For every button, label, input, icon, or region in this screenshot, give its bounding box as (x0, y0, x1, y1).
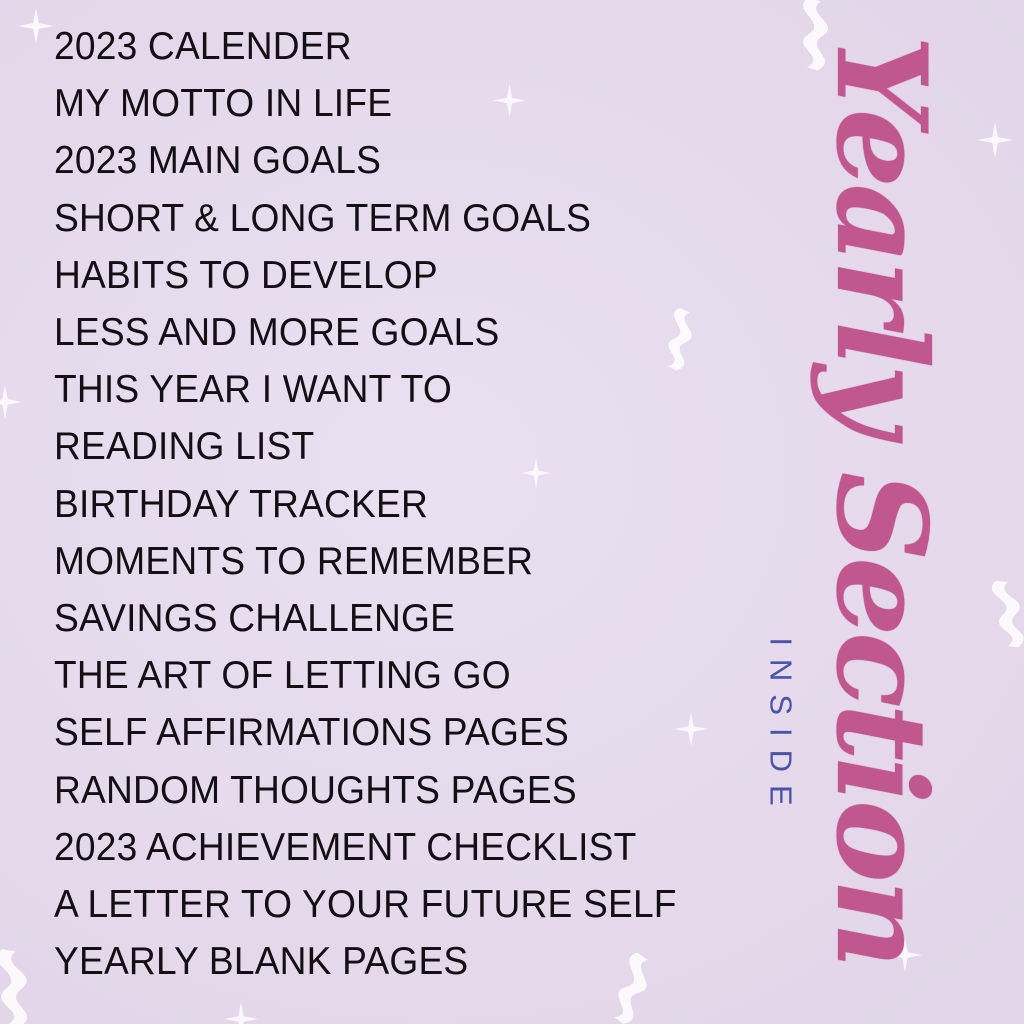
ribbon-bottom-left-icon (0, 943, 48, 1024)
list-item: LESS AND MORE GOALS (54, 304, 691, 361)
sparkle-top-left-icon (18, 8, 54, 44)
list-item: READING LIST (54, 418, 691, 475)
list-item: 2023 MAIN GOALS (54, 132, 691, 189)
list-item: HABITS TO DEVELOP (54, 247, 691, 304)
feature-list: 2023 CALENDERMY MOTTO IN LIFE2023 MAIN G… (54, 18, 714, 990)
list-item: MY MOTTO IN LIFE (54, 75, 691, 132)
list-item: BIRTHDAY TRACKER (54, 476, 691, 533)
list-item: SHORT & LONG TERM GOALS (54, 190, 691, 247)
ribbon-right-mid-icon (968, 557, 1024, 673)
list-item: 2023 CALENDER (54, 18, 691, 75)
inside-label: INSIDE (766, 637, 797, 818)
list-item: THIS YEAR I WANT TO (54, 361, 691, 418)
list-item: YEARLY BLANK PAGES (54, 933, 691, 990)
list-item: 2023 ACHIEVEMENT CHECKLIST (54, 819, 691, 876)
sparkle-left-edge-icon (0, 385, 22, 419)
promo-canvas: 2023 CALENDERMY MOTTO IN LIFE2023 MAIN G… (0, 0, 1024, 1024)
sparkle-bottom-mid-icon (224, 1002, 258, 1024)
list-item: MOMENTS TO REMEMBER (54, 533, 691, 590)
list-item: SAVINGS CHALLENGE (54, 590, 691, 647)
list-item: SELF AFFIRMATIONS PAGES (54, 704, 691, 761)
sparkle-upper-right-icon (977, 122, 1013, 158)
list-item: RANDOM THOUGHTS PAGES (54, 762, 691, 819)
list-item: THE ART OF LETTING GO (54, 647, 691, 704)
list-item: A LETTER TO YOUR FUTURE SELF (54, 876, 691, 933)
script-headline: Yearly Section (818, 35, 942, 965)
